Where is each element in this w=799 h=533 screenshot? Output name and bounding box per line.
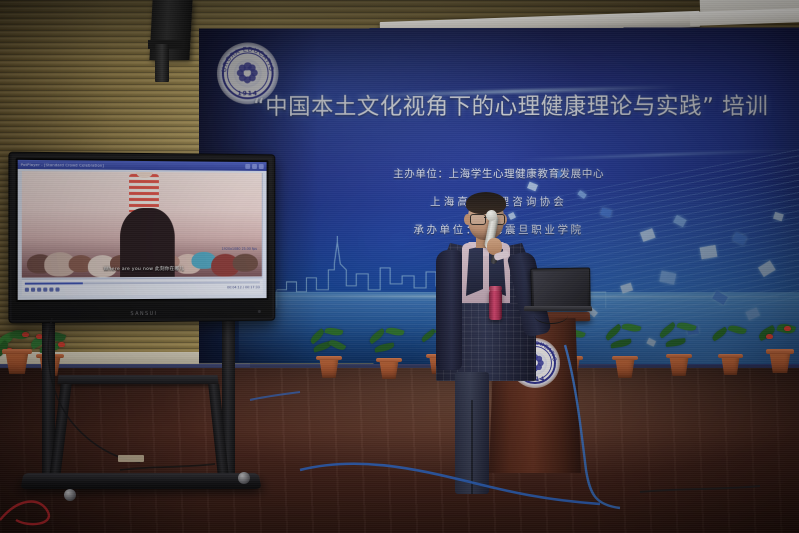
monitor-screen: PotPlayer - [Standard Crowd Celebration] <box>18 160 267 300</box>
next-icon[interactable] <box>49 288 53 292</box>
trolley-caster-right <box>238 472 250 484</box>
video-osd-info: 1920x1080 25.00 fps <box>222 246 257 250</box>
trolley-middle-shelf <box>57 375 218 384</box>
mount-arm <box>155 44 169 82</box>
flower-pot-rim <box>2 349 32 354</box>
eyeglasses-left-lens <box>470 214 486 225</box>
stage-floor-gloss <box>0 368 799 533</box>
laptop-screen <box>530 268 590 311</box>
potted-plant <box>768 352 792 373</box>
potted-plant <box>668 356 690 376</box>
minimize-icon[interactable] <box>245 164 250 169</box>
conference-hall-photo: AURORA EDUCATION 1914 “中国本土文化视角下的心理健康理论与… <box>0 0 799 533</box>
speaker-trouser-seam <box>471 400 473 494</box>
video-player-title: PotPlayer - [Standard Crowd Celebration] <box>21 162 104 167</box>
potted-plant <box>614 358 636 378</box>
display-monitor: PotPlayer - [Standard Crowd Celebration] <box>8 152 275 324</box>
monitor-power-led <box>258 310 261 313</box>
child-on-shoulders <box>130 174 159 212</box>
close-icon[interactable] <box>259 164 264 169</box>
vacuum-flask-cap <box>489 286 502 291</box>
playback-time: 00:04:12 / 00:17:33 <box>227 285 260 289</box>
potted-plant <box>4 352 30 374</box>
speaker-hair <box>466 192 506 214</box>
seek-bar[interactable] <box>25 281 260 284</box>
potted-plant <box>720 356 741 375</box>
video-surface[interactable]: Where are you now 此刻你在哪儿 1920x1080 25.00… <box>22 171 263 278</box>
window-controls[interactable] <box>245 164 263 169</box>
speaker-left-arm <box>436 250 462 370</box>
trolley-caster-left <box>64 489 76 501</box>
flower-pot <box>4 352 30 374</box>
maximize-icon[interactable] <box>252 164 257 169</box>
monitor-bezel: PotPlayer - [Standard Crowd Celebration] <box>16 158 269 302</box>
player-control-bar[interactable]: 00:04:12 / 00:17:33 <box>22 277 263 295</box>
stop-icon[interactable] <box>37 288 41 292</box>
volume-icon[interactable] <box>55 288 59 292</box>
monitor-brand-label: SANSUI <box>130 311 157 317</box>
podium-microphone-wire <box>534 307 568 324</box>
previous-icon[interactable] <box>43 288 47 292</box>
seek-progress <box>25 282 83 284</box>
playback-controls[interactable] <box>25 288 60 292</box>
potted-plant <box>378 360 400 379</box>
pause-icon[interactable] <box>31 288 35 292</box>
potted-plant <box>318 358 340 378</box>
video-player-titlebar[interactable]: PotPlayer - [Standard Crowd Celebration] <box>18 160 267 171</box>
trolley-base <box>20 473 261 489</box>
play-icon[interactable] <box>25 288 29 292</box>
vacuum-flask <box>489 290 502 320</box>
player-side-divider <box>262 173 263 277</box>
video-subtitle: Where are you now 此刻你在哪儿 <box>22 265 263 272</box>
